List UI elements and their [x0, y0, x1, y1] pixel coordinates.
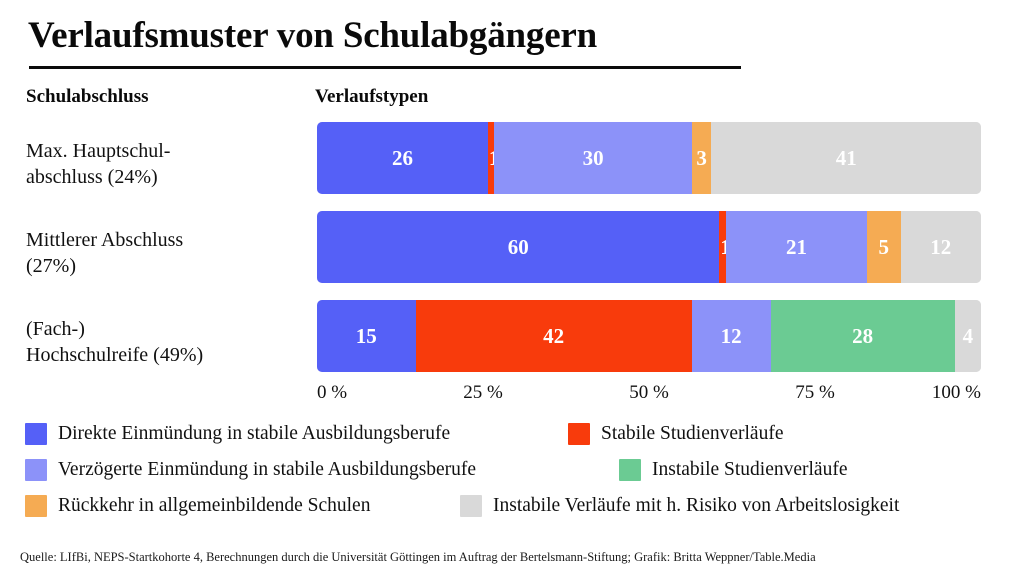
row-label: Max. Hauptschul-abschluss (24%) — [26, 138, 301, 190]
legend-label: Instabile Studienverläufe — [652, 458, 847, 482]
stacked-bar[interactable]: 26130341 — [317, 122, 981, 194]
row-label-line: Mittlerer Abschluss — [26, 227, 301, 253]
row-label-line: Max. Hauptschul- — [26, 138, 301, 164]
legend-swatch-icon — [25, 495, 47, 517]
bar-segment-value: 21 — [786, 235, 807, 260]
bar-segment-value: 30 — [583, 146, 604, 171]
bar-segment[interactable]: 42 — [416, 300, 692, 372]
bar-segment[interactable]: 12 — [901, 211, 981, 283]
x-axis-tick-label: 75 % — [795, 381, 835, 405]
legend-swatch-icon — [460, 495, 482, 517]
bar-segment[interactable]: 1 — [719, 211, 726, 283]
row-label: (Fach-)Hochschulreife (49%) — [26, 316, 301, 368]
legend-item[interactable]: Rückkehr in allgemeinbildende Schulen — [25, 490, 370, 522]
bar-segment[interactable]: 30 — [494, 122, 691, 194]
x-axis-tick-label: 100 % — [932, 381, 981, 405]
legend-swatch-icon — [568, 423, 590, 445]
bar-segment-value: 26 — [392, 146, 413, 171]
bar-segment[interactable]: 60 — [317, 211, 719, 283]
bar-segment-value: 4 — [963, 324, 974, 349]
bar-segment[interactable]: 41 — [711, 122, 981, 194]
x-axis: 0 %25 %50 %75 %100 % — [317, 381, 981, 405]
row-label-line: (Fach-) — [26, 316, 301, 342]
legend-swatch-icon — [25, 423, 47, 445]
bar-segment[interactable]: 12 — [692, 300, 771, 372]
legend-item[interactable]: Verzögerte Einmündung in stabile Ausbild… — [25, 454, 476, 486]
x-axis-tick-label: 25 % — [463, 381, 503, 405]
legend-label: Instabile Verläufe mit h. Risiko von Arb… — [493, 494, 899, 518]
row-label-line: Hochschulreife (49%) — [26, 342, 301, 368]
bar-segment-value: 12 — [721, 324, 742, 349]
x-axis-tick-label: 0 % — [317, 381, 347, 405]
bar-segment-value: 3 — [696, 146, 707, 171]
bar-segment[interactable]: 4 — [955, 300, 981, 372]
bar-segment[interactable]: 21 — [726, 211, 867, 283]
legend-row: Verzögerte Einmündung in stabile Ausbild… — [0, 454, 1024, 486]
bar-segment[interactable]: 5 — [867, 211, 901, 283]
chart-legend: Direkte Einmündung in stabile Ausbildung… — [0, 418, 1024, 528]
bar-segment-value: 5 — [878, 235, 889, 260]
legend-label: Stabile Studienverläufe — [601, 422, 784, 446]
legend-label: Verzögerte Einmündung in stabile Ausbild… — [58, 458, 476, 482]
bar-segment-value: 41 — [836, 146, 857, 171]
legend-label: Direkte Einmündung in stabile Ausbildung… — [58, 422, 450, 446]
legend-swatch-icon — [25, 459, 47, 481]
bar-segment[interactable]: 26 — [317, 122, 488, 194]
bar-segment-value: 12 — [930, 235, 951, 260]
legend-item[interactable]: Direkte Einmündung in stabile Ausbildung… — [25, 418, 450, 450]
row-label-line: (27%) — [26, 253, 301, 279]
source-note: Quelle: LIfBi, NEPS-Startkohorte 4, Bere… — [20, 549, 1010, 565]
bar-segment-value: 42 — [543, 324, 564, 349]
legend-row: Direkte Einmündung in stabile Ausbildung… — [0, 418, 1024, 450]
legend-swatch-icon — [619, 459, 641, 481]
legend-item[interactable]: Instabile Verläufe mit h. Risiko von Arb… — [460, 490, 899, 522]
legend-item[interactable]: Instabile Studienverläufe — [619, 454, 847, 486]
bar-segment-value: 28 — [852, 324, 873, 349]
legend-label: Rückkehr in allgemeinbildende Schulen — [58, 494, 370, 518]
bar-segment[interactable]: 3 — [692, 122, 712, 194]
bar-segment[interactable]: 15 — [317, 300, 416, 372]
bar-segment-value: 60 — [508, 235, 529, 260]
stacked-bar[interactable]: 60121512 — [317, 211, 981, 283]
chart-plot-area: Max. Hauptschul-abschluss (24%)26130341M… — [0, 0, 1024, 410]
row-label-line: abschluss (24%) — [26, 164, 301, 190]
x-axis-tick-label: 50 % — [629, 381, 669, 405]
bar-segment-value: 15 — [356, 324, 377, 349]
bar-segment[interactable]: 28 — [771, 300, 955, 372]
stacked-bar[interactable]: 154212284 — [317, 300, 981, 372]
row-label: Mittlerer Abschluss(27%) — [26, 227, 301, 279]
legend-row: Rückkehr in allgemeinbildende SchulenIns… — [0, 490, 1024, 522]
legend-item[interactable]: Stabile Studienverläufe — [568, 418, 784, 450]
